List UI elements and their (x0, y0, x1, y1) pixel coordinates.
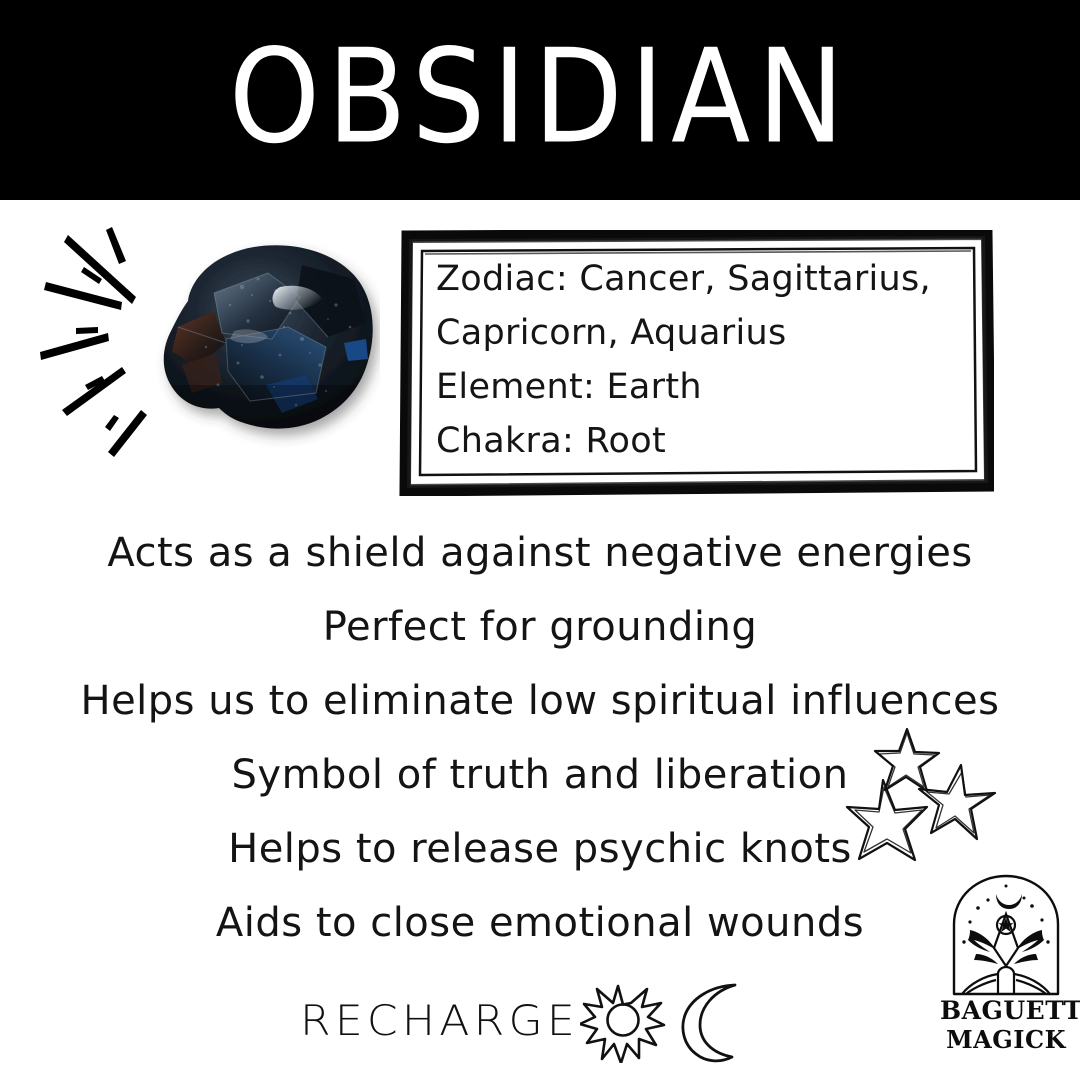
brand-logo: BAGUETTE MAGICK (940, 870, 1072, 1070)
property-line: Aids to close emotional wounds (0, 886, 1080, 960)
sun-icon (580, 977, 666, 1063)
property-line: Acts as a shield against negative energi… (0, 516, 1080, 590)
brand-wordmark: BAGUETTE MAGICK (940, 998, 1072, 1052)
brand-name-line-2: MAGICK (940, 1028, 1072, 1052)
three-hand-drawn-stars-icon (845, 725, 1020, 865)
brand-name-line-1: BAGUETTE (940, 998, 1072, 1023)
attribute-line: Zodiac: Cancer, Sagittarius, (436, 252, 976, 306)
attributes-box: Zodiac: Cancer, Sagittarius, Capricorn, … (398, 230, 994, 496)
attributes-list: Zodiac: Cancer, Sagittarius, Capricorn, … (436, 252, 976, 482)
hands-holding-crystal-arch-icon (940, 870, 1072, 996)
recharge-label: RECHARGE (300, 996, 579, 1045)
crescent-moon-icon (680, 977, 742, 1063)
crystal-info-card: OBSIDIAN (0, 0, 1080, 1080)
obsidian-stone-photo (130, 235, 380, 450)
recharge-row: RECHARGE (300, 975, 770, 1065)
title-banner: OBSIDIAN (0, 0, 1080, 200)
property-line: Perfect for grounding (0, 590, 1080, 664)
attribute-line: Capricorn, Aquarius (436, 306, 976, 360)
attribute-line: Chakra: Root (436, 414, 976, 468)
page-title: OBSIDIAN (0, 0, 1080, 212)
attribute-line: Element: Earth (436, 360, 976, 414)
stone-illustration-group (40, 205, 390, 495)
